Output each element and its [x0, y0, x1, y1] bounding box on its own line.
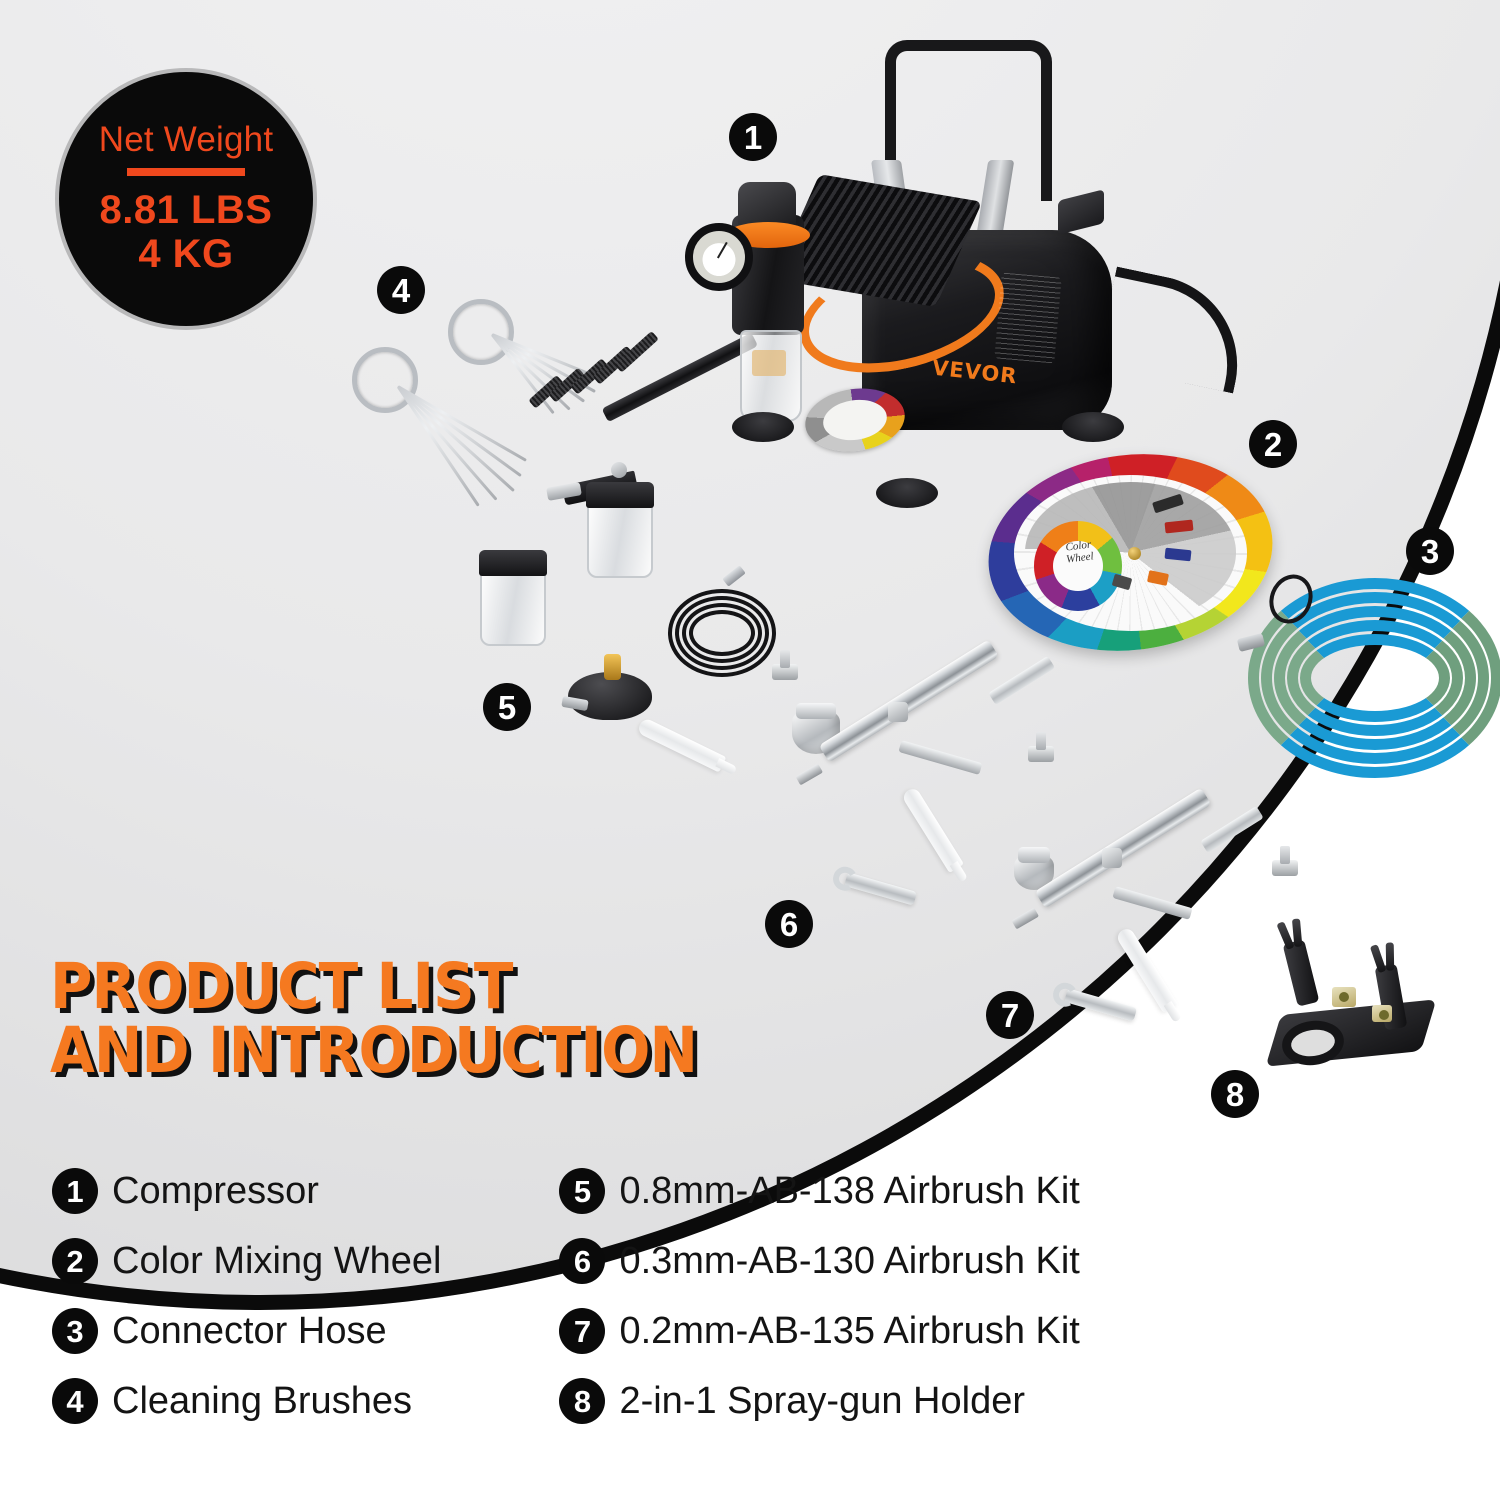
legend-item-airbrush-ab135: 7 0.2mm-AB-135 Airbrush Kit — [559, 1308, 1079, 1354]
airbrush-ab138-trigger[interactable] — [611, 462, 627, 478]
legend-number-4: 4 — [52, 1378, 98, 1424]
net-weight-kg: 4 KG — [138, 233, 233, 276]
legend-label-1: Compressor — [112, 1170, 319, 1213]
callout-3: 3 — [1406, 527, 1454, 575]
airbrush-ab130-needle-cap — [988, 656, 1055, 705]
page-title-line2: AND INTRODUCTION — [50, 1019, 697, 1083]
legend-label-6: 0.3mm-AB-130 Airbrush Kit — [619, 1240, 1079, 1283]
compressor-spec-label — [994, 273, 1061, 364]
legend-item-color-mixing-wheel: 2 Color Mixing Wheel — [52, 1238, 441, 1284]
nozzle-cap-tip — [1280, 846, 1290, 864]
airbrush-ab130-air-inlet — [898, 740, 982, 775]
paint-jar-attached — [587, 502, 653, 578]
cleaning-needle — [397, 385, 522, 477]
airbrush-ab135-nozzle-tip — [1012, 908, 1040, 930]
legend-number-7: 7 — [559, 1308, 605, 1354]
callout-8: 8 — [1211, 1070, 1259, 1118]
holder-thumb-screw[interactable] — [1372, 1005, 1392, 1022]
pressure-gauge-icon — [685, 223, 753, 291]
legend-number-6: 6 — [559, 1238, 605, 1284]
net-weight-title: Net Weight — [99, 122, 274, 157]
airbrush-ab130-trigger[interactable] — [888, 702, 908, 722]
callout-7: 7 — [986, 991, 1034, 1039]
compressor-foot — [876, 478, 938, 508]
compressor-foot — [732, 412, 794, 442]
legend-item-spray-gun-holder: 8 2-in-1 Spray-gun Holder — [559, 1378, 1079, 1424]
spare-paint-jar — [480, 548, 560, 648]
legend-label-2: Color Mixing Wheel — [112, 1240, 441, 1283]
callout-4: 4 — [377, 266, 425, 314]
airbrush-ab135-trigger[interactable] — [1102, 848, 1122, 868]
nozzle-cap-ab130 — [1028, 732, 1054, 762]
legend-number-3: 3 — [52, 1308, 98, 1354]
color-wheel-center-pin — [1128, 547, 1141, 560]
cleaning-needle — [397, 385, 527, 462]
airbrush-ab135-air-inlet — [1112, 886, 1192, 920]
net-weight-divider — [127, 168, 245, 176]
callout-1: 1 — [729, 113, 777, 161]
black-coiled-hose — [668, 583, 774, 675]
paint-jar — [480, 570, 546, 646]
compressor-foot — [1062, 412, 1124, 442]
nozzle-cap-ab135 — [1272, 846, 1298, 876]
product-connector-hose — [1248, 578, 1480, 756]
legend-column-left: 1 Compressor 2 Color Mixing Wheel 3 Conn… — [52, 1168, 441, 1424]
airbrush-ab130-nozzle-tip — [796, 764, 824, 786]
legend-number-2: 2 — [52, 1238, 98, 1284]
hose-coil — [689, 610, 755, 656]
compressor-handle-icon — [885, 40, 1052, 201]
hose-coil — [1300, 634, 1450, 722]
page-title: PRODUCT LIST AND INTRODUCTION — [50, 955, 753, 1084]
paint-jar-lid — [586, 482, 654, 508]
product-airbrush-ab135 — [1000, 790, 1300, 980]
net-weight-badge: Net Weight 8.81 LBS 4 KG — [55, 68, 317, 330]
nozzle-cap-tip — [1036, 732, 1046, 750]
legend-item-connector-hose: 3 Connector Hose — [52, 1308, 441, 1354]
airbrush-ab135-needle-cap — [1200, 806, 1263, 853]
legend-label-5: 0.8mm-AB-138 Airbrush Kit — [619, 1170, 1079, 1213]
jar-cap-brass-stem — [604, 654, 621, 680]
legend-label-7: 0.2mm-AB-135 Airbrush Kit — [619, 1310, 1079, 1353]
legend-item-airbrush-ab130: 6 0.3mm-AB-130 Airbrush Kit — [559, 1238, 1079, 1284]
legend-number-8: 8 — [559, 1378, 605, 1424]
legend-column-right: 5 0.8mm-AB-138 Airbrush Kit 6 0.3mm-AB-1… — [559, 1168, 1079, 1424]
product-spray-gun-holder — [1268, 915, 1468, 1090]
page-title-line1: PRODUCT LIST — [50, 955, 697, 1019]
nozzle-cap-tip — [780, 650, 790, 668]
paint-jar-lid — [479, 550, 547, 576]
legend-number-5: 5 — [559, 1168, 605, 1214]
legend-number-1: 1 — [52, 1168, 98, 1214]
product-legend: 1 Compressor 2 Color Mixing Wheel 3 Conn… — [52, 1168, 1452, 1424]
color-wheel-swatch — [1164, 547, 1191, 561]
infographic-stage: VEVOR — [0, 0, 1500, 1500]
compressor-water-trap-bowl — [740, 330, 802, 422]
callout-5: 5 — [483, 683, 531, 731]
legend-item-cleaning-brushes: 4 Cleaning Brushes — [52, 1378, 441, 1424]
callout-6: 6 — [765, 900, 813, 948]
airbrush-ab130-cup-lid — [796, 703, 836, 719]
brush-key-ring — [448, 299, 514, 365]
compressor-power-switch[interactable] — [1058, 189, 1104, 234]
legend-item-airbrush-ab138: 5 0.8mm-AB-138 Airbrush Kit — [559, 1168, 1079, 1214]
holder-thumb-screw[interactable] — [1332, 987, 1356, 1007]
net-weight-lbs: 8.81 LBS — [100, 189, 273, 232]
airbrush-ab135-cup-lid — [1018, 847, 1050, 863]
callout-2: 2 — [1249, 420, 1297, 468]
legend-label-4: Cleaning Brushes — [112, 1380, 412, 1423]
nozzle-cap-ab138 — [772, 650, 798, 680]
holder-fork-clip — [1283, 939, 1320, 1006]
legend-label-8: 2-in-1 Spray-gun Holder — [619, 1380, 1025, 1423]
cleaning-needle — [397, 386, 498, 501]
legend-label-3: Connector Hose — [112, 1310, 387, 1353]
legend-item-compressor: 1 Compressor — [52, 1168, 441, 1214]
